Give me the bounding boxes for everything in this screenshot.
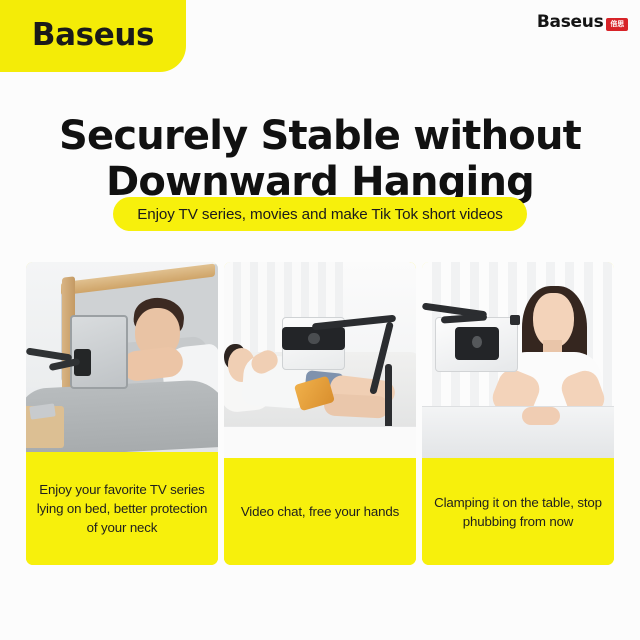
feature-caption-sofa: Video chat, free your hands [224,458,416,565]
page-title: Securely Stable without Downward Hanging [0,113,640,205]
feature-caption-table-text: Clamping it on the table, stop phubbing … [430,493,606,531]
brand-badge: Baseus [0,0,186,72]
feature-caption-bed: Enjoy your favorite TV series lying on b… [26,452,218,565]
feature-caption-bed-text: Enjoy your favorite TV series lying on b… [34,480,210,537]
photo-holder-knob [308,333,320,345]
feature-panel-sofa: Video chat, free your hands [224,262,416,565]
subtitle-text: Enjoy TV series, movies and make Tik Tok… [137,206,503,223]
photo-floor [224,426,416,458]
feature-caption-table: Clamping it on the table, stop phubbing … [422,458,614,565]
photo-mount-arm-post [385,364,392,431]
headline-line-1: Securely Stable without [0,113,640,159]
feature-panel-bed: Enjoy your favorite TV series lying on b… [26,262,218,565]
corner-logo-label: Baseus [537,12,604,32]
subtitle-pill: Enjoy TV series, movies and make Tik Tok… [113,197,527,231]
photo-person-hands [522,407,560,425]
feature-caption-sofa-text: Video chat, free your hands [241,502,399,521]
photo-sofa-tablet-arm [224,262,416,458]
corner-logo-tag-badge: 倍思 [606,18,628,31]
photo-bed-tablet-mount [26,262,218,452]
brand-badge-label: Baseus [32,17,154,53]
photo-table-surface [422,406,614,458]
feature-panel-table: Clamping it on the table, stop phubbing … [422,262,614,565]
photo-camera-dot [510,315,520,325]
photo-table-tablet-clamp [422,262,614,458]
photo-holder-knob [472,336,482,348]
subtitle-pill-container: Enjoy TV series, movies and make Tik Tok… [0,197,640,231]
corner-logo: Baseus 倍思 [537,12,628,32]
feature-panel-row: Enjoy your favorite TV series lying on b… [26,262,614,565]
